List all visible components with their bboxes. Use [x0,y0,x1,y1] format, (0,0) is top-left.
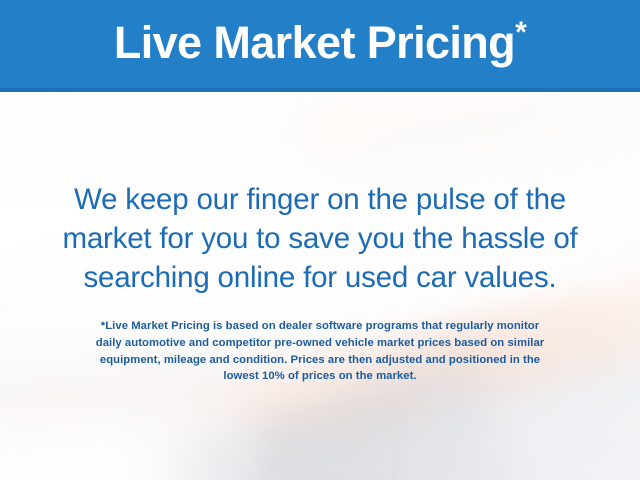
promo-slide: Live Market Pricing* We keep our finger … [0,0,640,480]
disclaimer-line-3: equipment, mileage and condition. Prices… [28,352,612,369]
header-banner: Live Market Pricing* [0,0,640,92]
headline: We keep our finger on the pulse of the m… [22,180,618,297]
headline-line-3: searching online for used car values. [22,258,618,297]
banner-title-text: Live Market Pricing [114,17,515,68]
banner-title-asterisk: * [515,16,526,49]
disclaimer-line-4: lowest 10% of prices on the market. [28,368,612,385]
headline-line-2: market for you to save you the hassle of [22,219,618,258]
content-area: We keep our finger on the pulse of the m… [0,92,640,480]
disclaimer-text: *Live Market Pricing is based on dealer … [28,318,612,385]
disclaimer-line-2: daily automotive and competitor pre-owne… [28,335,612,352]
headline-line-1: We keep our finger on the pulse of the [22,180,618,219]
disclaimer-line-1: *Live Market Pricing is based on dealer … [28,318,612,335]
banner-title: Live Market Pricing* [114,20,526,65]
